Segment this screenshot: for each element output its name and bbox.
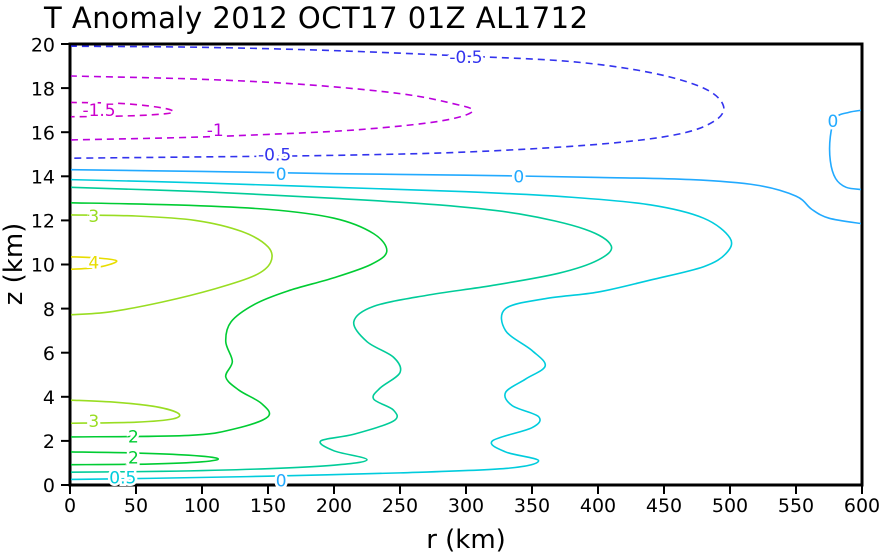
contour-label: -1 bbox=[207, 121, 224, 141]
contour-lines-group bbox=[70, 46, 862, 479]
contour-label: 3 bbox=[88, 412, 99, 432]
plot-frame bbox=[70, 44, 862, 485]
contour-line bbox=[70, 452, 218, 465]
x-tick-label: 400 bbox=[580, 495, 616, 517]
contour-line bbox=[70, 170, 862, 224]
y-axis-label: z (km) bbox=[0, 223, 29, 306]
x-axis-label: r (km) bbox=[426, 525, 506, 555]
x-tick-label: 600 bbox=[844, 495, 879, 517]
x-tick-label: 200 bbox=[316, 495, 352, 517]
contour-label: -1.5 bbox=[82, 101, 115, 121]
y-tick-label: 6 bbox=[43, 343, 55, 365]
x-tick-label: 0 bbox=[64, 495, 76, 517]
x-axis-tick-labels: 0 50 100 150 200 250 300 350 400 450 500… bbox=[64, 495, 879, 517]
contour-label: 2 bbox=[128, 427, 139, 447]
contour-label: 0.5 bbox=[109, 468, 136, 488]
contour-line bbox=[70, 180, 732, 480]
x-tick-label: 350 bbox=[514, 495, 550, 517]
plot-title: T Anomaly 2012 OCT17 01Z AL1712 bbox=[43, 1, 589, 35]
y-tick-label: 16 bbox=[31, 123, 55, 145]
x-tick-label: 100 bbox=[184, 495, 220, 517]
x-tick-label: 250 bbox=[382, 495, 418, 517]
figure-canvas: T Anomaly 2012 OCT17 01Z AL1712 0 50 100… bbox=[0, 0, 879, 559]
contour-label: 0 bbox=[513, 167, 524, 187]
contour-line bbox=[70, 46, 724, 158]
y-tick-label: 20 bbox=[31, 35, 55, 57]
contour-label: 0 bbox=[276, 165, 287, 185]
contour-line bbox=[70, 400, 180, 423]
contour-label: 2 bbox=[128, 448, 139, 468]
y-tick-label: 2 bbox=[43, 431, 55, 453]
contour-line bbox=[70, 215, 272, 315]
y-tick-label: 14 bbox=[31, 167, 55, 189]
contour-label: 0 bbox=[828, 112, 839, 132]
contour-label: 3 bbox=[88, 207, 99, 227]
contour-line bbox=[70, 187, 612, 472]
contour-label: 4 bbox=[88, 253, 99, 273]
y-tick-label: 12 bbox=[31, 211, 55, 233]
y-tick-label: 8 bbox=[43, 299, 55, 321]
x-tick-label: 500 bbox=[712, 495, 748, 517]
contour-label: 0 bbox=[276, 472, 287, 492]
y-tick-label: 10 bbox=[31, 255, 55, 277]
contour-plot-figure: T Anomaly 2012 OCT17 01Z AL1712 0 50 100… bbox=[0, 0, 879, 559]
contour-line bbox=[70, 76, 473, 140]
contour-label: -0.5 bbox=[449, 48, 482, 68]
x-tick-label: 50 bbox=[124, 495, 148, 517]
y-axis-tick-labels: 0 2 4 6 8 10 12 14 16 18 20 bbox=[31, 35, 55, 498]
y-tick-label: 0 bbox=[43, 475, 55, 497]
x-tick-label: 450 bbox=[646, 495, 682, 517]
y-tick-label: 18 bbox=[31, 79, 55, 101]
x-tick-label: 550 bbox=[778, 495, 814, 517]
contour-labels-group: -0.5-0.5-1.5-1.5-1-1-0.5-0.5000000334433… bbox=[82, 48, 838, 491]
contour-label: -0.5 bbox=[258, 145, 291, 165]
x-tick-label: 300 bbox=[448, 495, 484, 517]
x-tick-label: 150 bbox=[250, 495, 286, 517]
y-tick-label: 4 bbox=[43, 387, 55, 409]
